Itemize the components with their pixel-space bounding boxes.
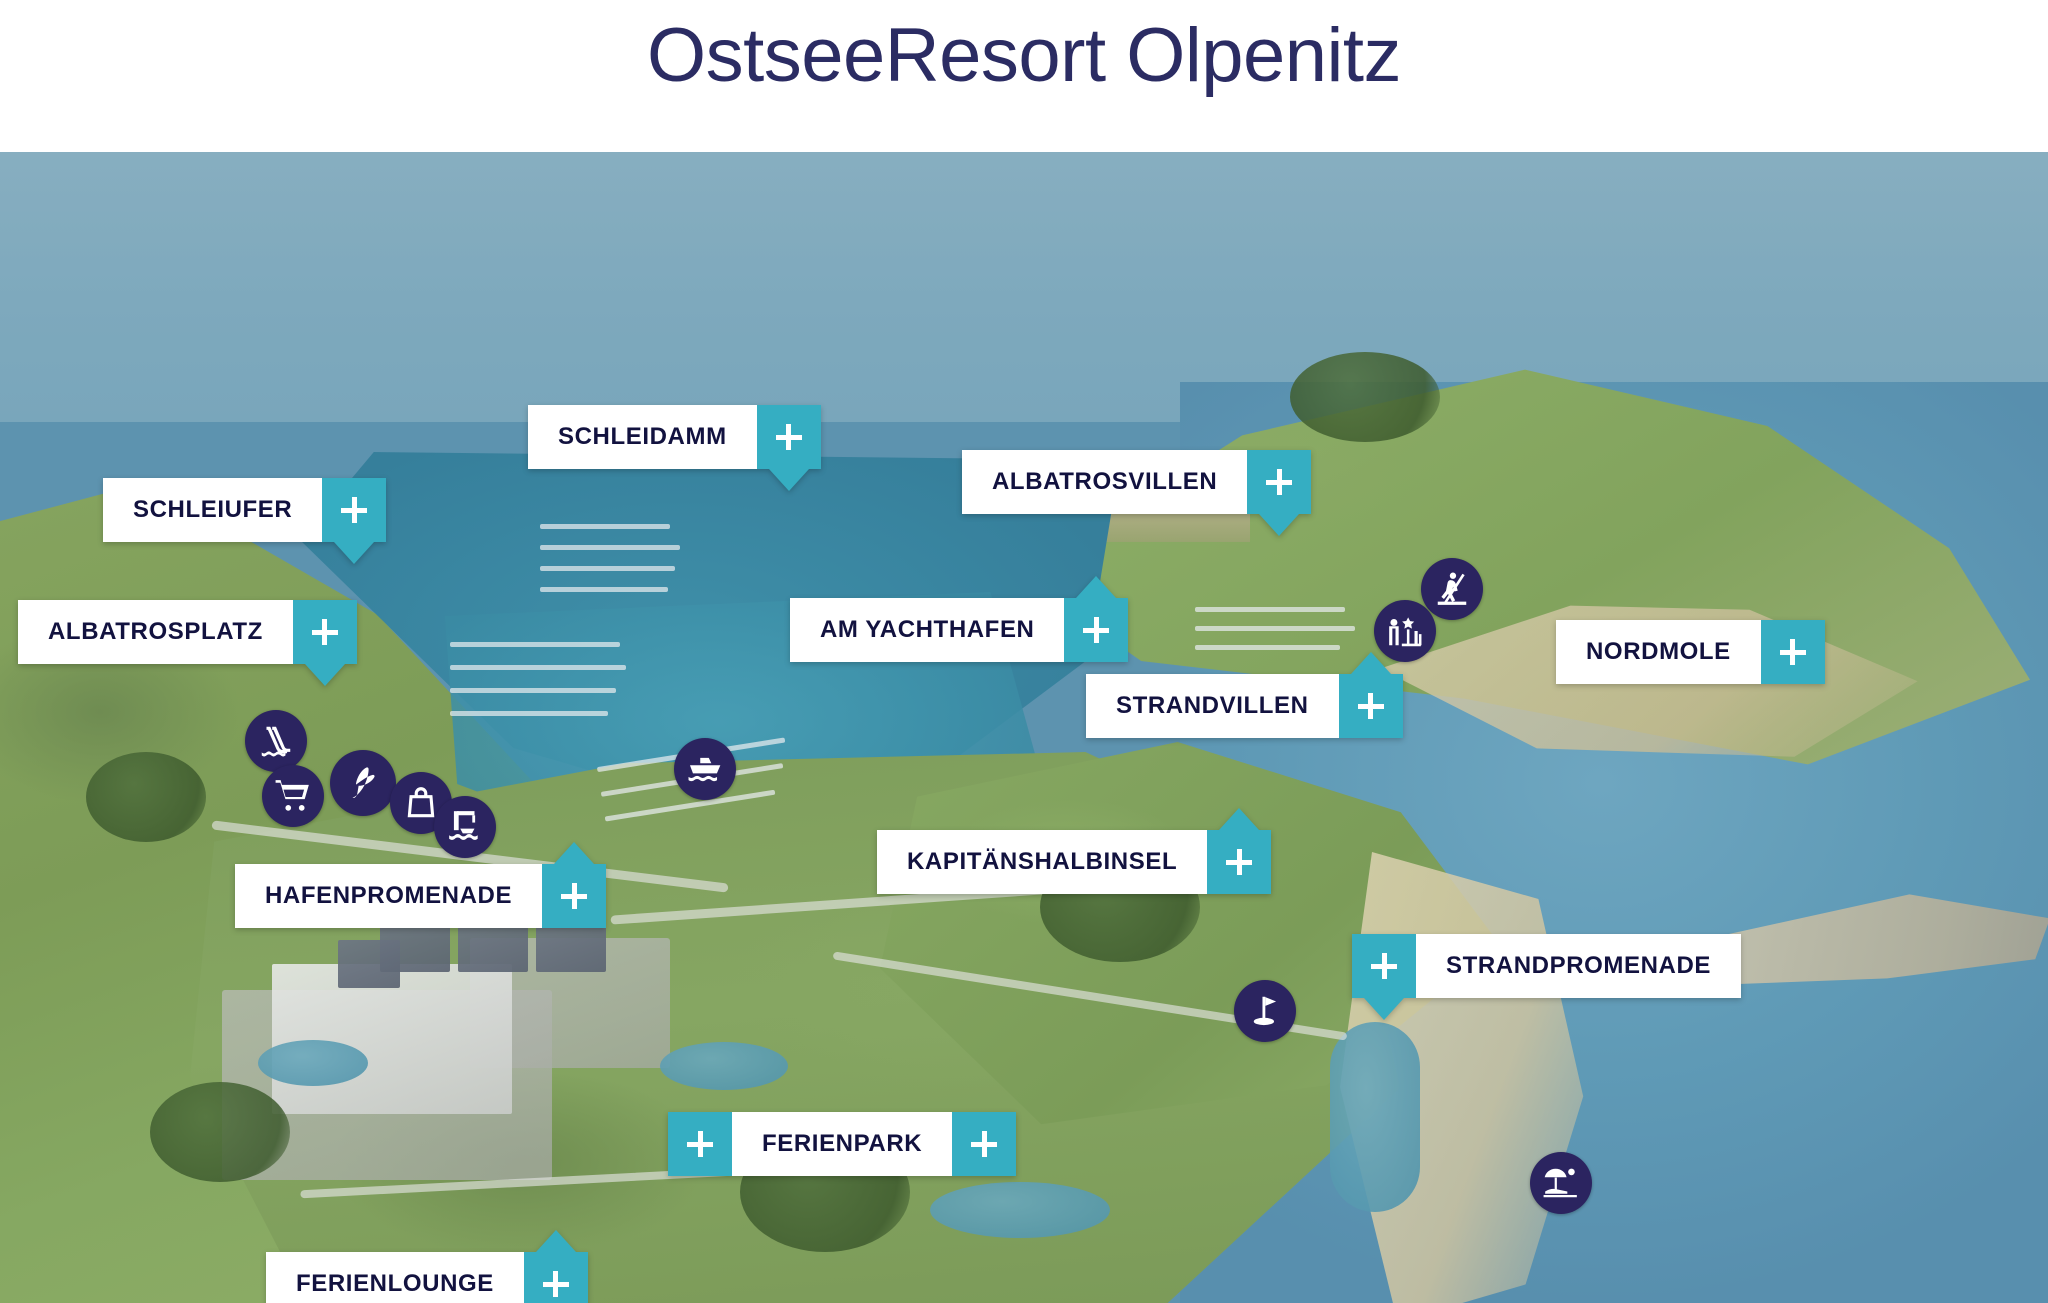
hotspot-ferienpark[interactable]: FERIENPARK (668, 1112, 1016, 1176)
pointer-down-icon (334, 542, 374, 564)
hotspot-plus-button[interactable] (322, 478, 386, 542)
tree-cluster (1290, 352, 1440, 442)
hotspot-plus-button-right[interactable] (952, 1112, 1016, 1176)
pointer-down-icon (769, 469, 809, 491)
hotspot-plus-button-left[interactable] (668, 1112, 732, 1176)
hotspot-label: FERIENLOUNGE (266, 1252, 524, 1303)
hotspot-label: SCHLEIUFER (103, 478, 322, 542)
pontoon-row (450, 642, 626, 716)
hotspot-plus-button[interactable] (1339, 674, 1403, 738)
stand-up-paddle-icon[interactable] (1421, 558, 1483, 620)
hotspot-label: FERIENPARK (732, 1112, 952, 1176)
beach-umbrella-icon[interactable] (1530, 1152, 1592, 1214)
hotspot-plus-button[interactable] (1207, 830, 1271, 894)
motorboat-icon[interactable] (674, 738, 736, 800)
hotspot-label: ALBATROSPLATZ (18, 600, 293, 664)
boat-crane-icon[interactable] (434, 796, 496, 858)
hotspot-hafenpromenade[interactable]: HAFENPROMENADE (235, 864, 606, 928)
building (338, 940, 400, 988)
pontoon-row (1195, 607, 1355, 650)
hotspot-nordmole[interactable]: NORDMOLE (1556, 620, 1825, 684)
pointer-down-icon (305, 664, 345, 686)
hotspot-ferienlounge[interactable]: FERIENLOUNGE (266, 1252, 588, 1303)
pointer-up-icon (554, 842, 594, 864)
hotspot-label: NORDMOLE (1556, 620, 1761, 684)
pointer-up-icon (1351, 652, 1391, 674)
hotspot-schleidamm[interactable]: SCHLEIDAMM (528, 405, 821, 469)
pond (1330, 1022, 1420, 1212)
hotspot-plus-button[interactable] (757, 405, 821, 469)
hotspot-kapitaenshalbinsel[interactable]: KAPITÄNSHALBINSEL (877, 830, 1271, 894)
pointer-down-icon (1364, 998, 1404, 1020)
hotspot-label: STRANDPROMENADE (1416, 934, 1741, 998)
hotspot-albatrosplatz[interactable]: ALBATROSPLATZ (18, 600, 357, 664)
hotspot-plus-button[interactable] (293, 600, 357, 664)
resort-map-page: OstseeResort Olpenitz (0, 0, 2048, 1303)
golf-flag-icon[interactable] (1234, 980, 1296, 1042)
pointer-up-icon (536, 1230, 576, 1252)
tree-cluster (86, 752, 206, 842)
hotspot-schleiufer[interactable]: SCHLEIUFER (103, 478, 386, 542)
tree-cluster (150, 1082, 290, 1182)
pond (258, 1040, 368, 1086)
page-title: OstseeResort Olpenitz (0, 12, 2048, 99)
hotspot-label: STRANDVILLEN (1086, 674, 1339, 738)
water-slide-icon[interactable] (245, 710, 307, 772)
pointer-down-icon (1259, 514, 1299, 536)
map-background-image (0, 152, 2048, 1303)
hotspot-plus-button[interactable] (524, 1252, 588, 1303)
hotspot-am-yachthafen[interactable]: AM YACHTHAFEN (790, 598, 1128, 662)
hotspot-strandvillen[interactable]: STRANDVILLEN (1086, 674, 1403, 738)
pointer-up-icon (1219, 808, 1259, 830)
hotspot-plus-button[interactable] (1064, 598, 1128, 662)
hotspot-plus-button[interactable] (1352, 934, 1416, 998)
hotspot-strandpromenade[interactable]: STRANDPROMENADE (1352, 934, 1741, 998)
hotspot-plus-button[interactable] (542, 864, 606, 928)
pond (660, 1042, 788, 1090)
hotspot-albatrosvillen[interactable]: ALBATROSVILLEN (962, 450, 1311, 514)
shopping-cart-icon[interactable] (262, 765, 324, 827)
hotspot-label: HAFENPROMENADE (235, 864, 542, 928)
f-logo-icon[interactable] (330, 750, 396, 816)
hotspot-label: SCHLEIDAMM (528, 405, 757, 469)
hotspot-label: KAPITÄNSHALBINSEL (877, 830, 1207, 894)
pointer-up-icon (1076, 576, 1116, 598)
hotspot-label: ALBATROSVILLEN (962, 450, 1247, 514)
hotspot-label: AM YACHTHAFEN (790, 598, 1064, 662)
hotspot-plus-button[interactable] (1761, 620, 1825, 684)
interactive-map[interactable]: SCHLEIDAMM SCHLEIUFER ALBATROSVILLEN ALB… (0, 152, 2048, 1303)
pond (930, 1182, 1110, 1238)
pontoon-row (540, 524, 680, 592)
hotspot-plus-button[interactable] (1247, 450, 1311, 514)
